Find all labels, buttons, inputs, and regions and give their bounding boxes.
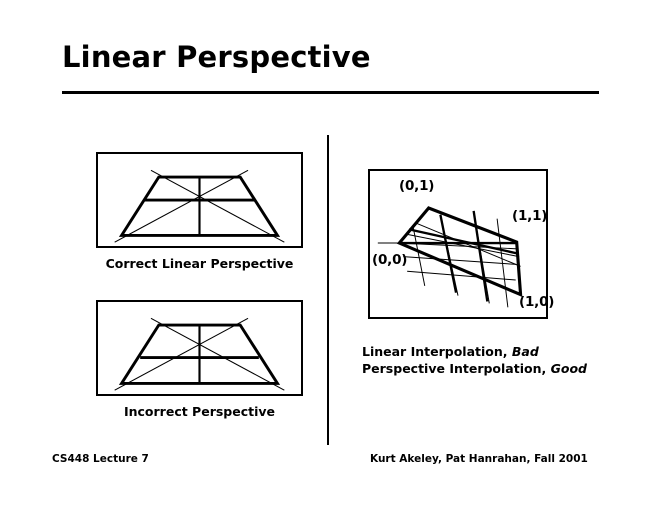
note-perspective-interpolation: Perspective Interpolation, Good [362,360,622,377]
note-perspective-prefix: Perspective Interpolation, [362,361,551,376]
grid-lines-v [413,211,508,307]
diagonal-extended-up-right [115,170,248,242]
note-linear-interpolation: Linear Interpolation, Bad [362,343,622,360]
figure-incorrect-perspective [96,300,303,396]
diagonal-extended-up-left [151,170,284,242]
interpolation-notes: Linear Interpolation, Bad Perspective In… [362,343,622,377]
note-linear-prefix: Linear Interpolation, [362,344,512,359]
figure-correct-linear-perspective [96,152,303,248]
coord-label-0-1: (0,1) [399,178,434,194]
note-perspective-emphasis: Good [551,361,587,376]
caption-incorrect-perspective: Incorrect Perspective [96,404,303,420]
coord-label-0-0: (0,0) [372,252,407,268]
coord-label-1-1: (1,1) [512,208,547,224]
column-divider [327,135,329,445]
correct-perspective-drawing [98,154,301,246]
slide-canvas: Linear Perspective Correct Linear Perspe… [0,0,660,510]
note-linear-emphasis: Bad [512,344,539,359]
footer-authors-label: Kurt Akeley, Pat Hanrahan, Fall 2001 [370,453,588,465]
incorrect-perspective-drawing [98,302,301,394]
title-underline-rule [62,91,599,94]
footer-lecture-label: CS448 Lecture 7 [52,453,149,465]
page-title: Linear Perspective [62,40,602,74]
diagonal-extended-up-left [151,318,284,390]
caption-correct-linear-perspective: Correct Linear Perspective [96,256,303,272]
diagonal-extended-up-right [115,318,248,390]
coord-label-1-0: (1,0) [519,294,554,310]
